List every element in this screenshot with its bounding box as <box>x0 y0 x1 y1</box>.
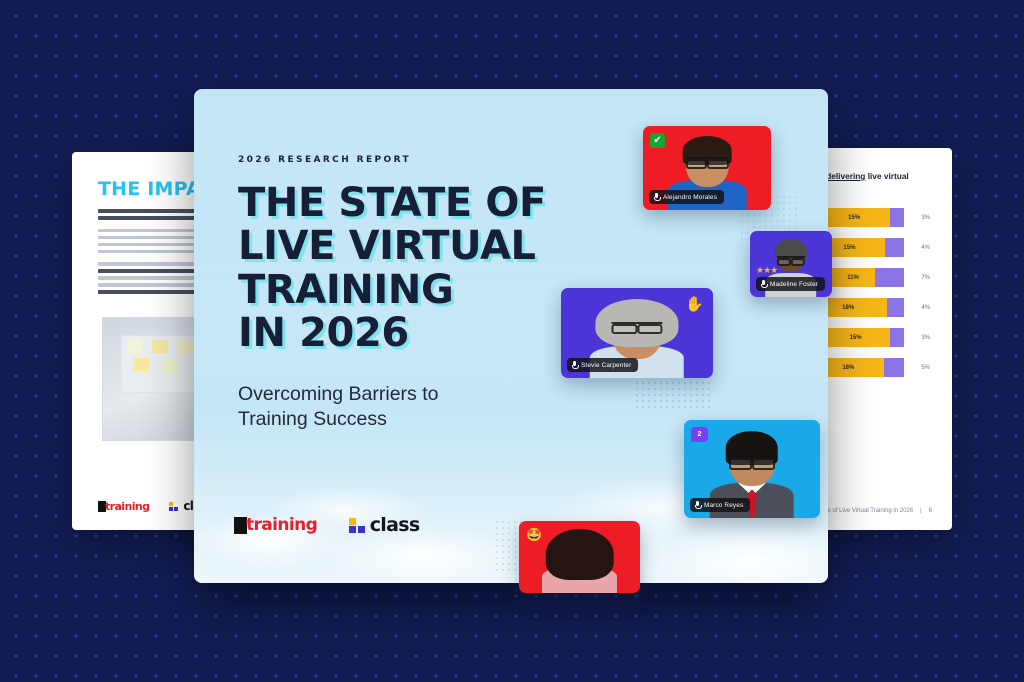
video-tile-madeline[interactable]: ★★★ Madeline Foster <box>750 231 832 297</box>
chart-segment <box>884 358 904 377</box>
participant-name: Stevie Carpenter <box>581 362 631 369</box>
chart-segment: 15% <box>821 328 890 347</box>
participant-namebar: Alejandro Morales <box>649 190 724 204</box>
participant-name: Marco Reyes <box>704 502 743 509</box>
participant-namebar: Stevie Carpenter <box>567 358 638 372</box>
raised-hand-icon: ✋ <box>685 297 704 312</box>
cover-title: THE STATE OF LIVE VIRTUAL TRAINING IN 20… <box>238 182 568 356</box>
video-tile-stevie[interactable]: ✋ Stevie Carpenter <box>561 288 713 378</box>
cover-eyebrow: 2026 RESEARCH REPORT <box>238 155 568 165</box>
chart-segment <box>885 238 904 257</box>
chart-row-label: 3% <box>904 335 930 341</box>
chart-row-label: 5% <box>904 365 930 371</box>
page-number: 6 <box>929 508 932 514</box>
chart-segment <box>890 208 904 227</box>
chart-row-label: 4% <box>904 305 930 311</box>
check-icon: ✔ <box>650 133 665 148</box>
cover-subtitle-line: Training Success <box>238 407 568 432</box>
cover-logos: training class <box>234 516 419 535</box>
training-logo: training <box>234 517 317 534</box>
chart-segment: 15% <box>819 208 890 227</box>
star-rating-icon: ★★★ <box>756 266 777 275</box>
participant-namebar: Madeline Foster <box>756 277 825 291</box>
chart-row-label: 7% <box>904 275 930 281</box>
cover-text-block: 2026 RESEARCH REPORT THE STATE OF LIVE V… <box>238 155 568 431</box>
class-logo-mark <box>169 502 178 511</box>
cover-title-line: THE STATE OF <box>238 182 568 225</box>
participant-name: Alejandro Morales <box>663 194 717 201</box>
emoji-reaction-icon: 🤩 <box>526 528 542 541</box>
chart-segment: 11% <box>831 268 876 287</box>
participant-avatar <box>542 531 617 593</box>
video-tile-participant-5[interactable]: 🤩 <box>519 521 640 593</box>
chart-segment <box>875 268 904 287</box>
video-tile-alejandro[interactable]: ✔ Alejandro Morales <box>643 126 771 210</box>
video-tile-marco[interactable]: 2 Marco Reyes <box>684 420 820 518</box>
mic-icon <box>654 193 659 201</box>
mic-icon <box>572 361 577 369</box>
cover-subtitle-line: Overcoming Barriers to <box>238 382 568 407</box>
mic-icon <box>695 501 700 509</box>
class-logo-mark <box>349 518 365 534</box>
chat-badge-icon: 2 <box>691 427 708 442</box>
cover-title-line: IN 2026 <box>238 312 568 355</box>
chart-segment <box>887 298 904 317</box>
mic-icon <box>761 280 766 288</box>
cover-subtitle: Overcoming Barriers to Training Success <box>238 382 568 432</box>
footer-divider: | <box>920 508 922 514</box>
participant-namebar: Marco Reyes <box>690 498 750 512</box>
chart-segment <box>890 328 904 347</box>
chart-row-label: 3% <box>904 215 930 221</box>
cover-title-line: LIVE VIRTUAL <box>238 225 568 268</box>
participant-name: Madeline Foster <box>770 281 818 288</box>
cover-title-line: TRAINING <box>238 269 568 312</box>
class-logo: class <box>349 516 419 535</box>
chart-row-label: 4% <box>904 245 930 251</box>
training-logo: training <box>98 501 149 512</box>
